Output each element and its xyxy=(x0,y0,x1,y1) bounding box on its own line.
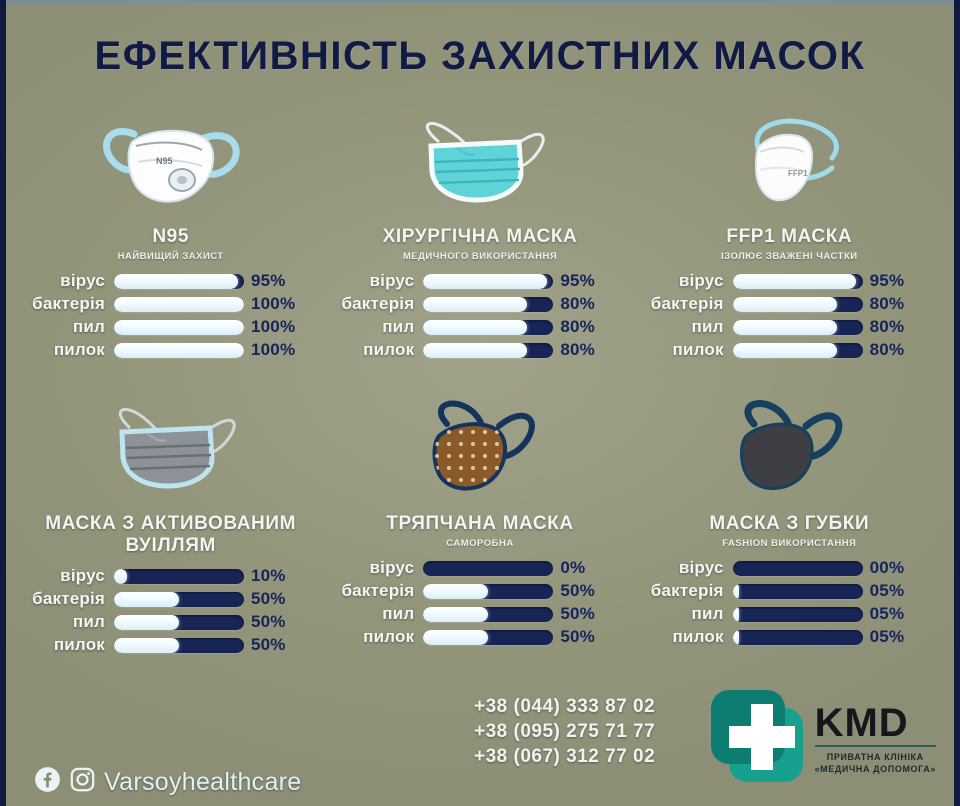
bar-label: пил xyxy=(325,604,423,624)
bar-track xyxy=(733,561,863,576)
bar-row: пил 50% xyxy=(325,604,634,624)
bar-row: вірус 95% xyxy=(325,271,634,291)
mask-card-cloth[interactable]: ТРЯПЧАНА МАСКА САМОРОБНА вірус 0% бактер… xyxy=(325,385,634,658)
bar-track xyxy=(733,343,863,358)
bar-fill xyxy=(114,638,179,653)
mask-row-bottom: МАСКА З АКТИВОВАНИМ ВУІЛЛЯМ вірус 10% ба… xyxy=(16,385,944,658)
bar-list: вірус 95% бактерія 80% пил 80% xyxy=(635,271,944,360)
bar-label: пилок xyxy=(325,340,423,360)
bar-row: бактерія 50% xyxy=(325,581,634,601)
bar-label: бактерія xyxy=(325,294,423,314)
mask-card-n95[interactable]: N95 N95 НАЙВИЩИЙ ЗАХИСТ вірус 95% бактер… xyxy=(16,98,325,363)
mask-subtitle: FASHION ВИКОРИСТАННЯ xyxy=(635,538,944,549)
surgical-mask-icon xyxy=(325,98,634,226)
bar-row: бактерія 50% xyxy=(16,589,325,609)
bar-row: пил 80% xyxy=(325,317,634,337)
bar-fill xyxy=(733,584,740,599)
kmd-logo[interactable]: KMD ПРИВАТНА КЛІНІКА «МЕДИЧНА ДОПОМОГА» xyxy=(711,690,936,782)
mask-title: МАСКА З ГУБКИ xyxy=(635,513,944,535)
bar-fill xyxy=(733,630,740,645)
bar-fill xyxy=(423,297,527,312)
bar-track xyxy=(733,584,863,599)
bar-row: пилок 80% xyxy=(325,340,634,360)
mask-card-surgical[interactable]: ХІРУРГІЧНА МАСКА МЕДИЧНОГО ВИКОРИСТАННЯ … xyxy=(325,98,634,363)
bar-row: пил 05% xyxy=(635,604,944,624)
page-title: ЕФЕКТИВНІСТЬ ЗАХИСТНИХ МАСОК xyxy=(6,34,954,79)
bar-value: 50% xyxy=(553,604,613,624)
bar-value: 0% xyxy=(553,558,613,578)
logo-tagline-line2: «МЕДИЧНА ДОПОМОГА» xyxy=(815,763,936,775)
bar-fill xyxy=(114,592,179,607)
mask-subtitle: НАЙВИЩИЙ ЗАХИСТ xyxy=(16,251,325,262)
ffp1-respirator-icon: FFP1 xyxy=(635,98,944,226)
bar-row: вірус 00% xyxy=(635,558,944,578)
bar-value: 80% xyxy=(553,340,613,360)
bar-row: бактерія 80% xyxy=(635,294,944,314)
bar-label: бактерія xyxy=(16,589,114,609)
bar-row: пилок 50% xyxy=(16,635,325,655)
bar-fill xyxy=(114,320,244,335)
bar-list: вірус 10% бактерія 50% пил 50% xyxy=(16,566,325,655)
bar-fill xyxy=(733,320,837,335)
bar-track xyxy=(733,607,863,622)
bar-label: пил xyxy=(16,317,114,337)
bar-value: 10% xyxy=(244,566,304,586)
sponge-mask-icon xyxy=(635,385,944,513)
bar-fill xyxy=(114,274,238,289)
bar-value: 05% xyxy=(863,627,923,647)
bar-label: пил xyxy=(325,317,423,337)
bar-value: 80% xyxy=(553,294,613,314)
infographic-page: ЕФЕКТИВНІСТЬ ЗАХИСТНИХ МАСОК N95 xyxy=(0,0,960,806)
cloth-mask-icon xyxy=(325,385,634,513)
bar-row: бактерія 100% xyxy=(16,294,325,314)
bar-label: пил xyxy=(635,604,733,624)
bar-track xyxy=(114,569,244,584)
social-handle[interactable]: Varsoyhealthcare xyxy=(104,768,302,797)
bar-row: пил 50% xyxy=(16,612,325,632)
bar-track xyxy=(114,638,244,653)
bar-value: 00% xyxy=(863,558,923,578)
bar-row: бактерія 05% xyxy=(635,581,944,601)
bar-fill xyxy=(114,569,127,584)
bar-row: пилок 100% xyxy=(16,340,325,360)
bar-row: пилок 50% xyxy=(325,627,634,647)
bar-fill xyxy=(733,297,837,312)
bar-track xyxy=(423,320,553,335)
bar-track xyxy=(733,274,863,289)
bar-label: вірус xyxy=(635,271,733,291)
bar-track xyxy=(114,592,244,607)
bar-value: 05% xyxy=(863,604,923,624)
bar-fill xyxy=(733,274,857,289)
top-divider xyxy=(6,0,954,3)
bar-label: вірус xyxy=(325,271,423,291)
phone-number[interactable]: +38 (067) 312 77 02 xyxy=(474,744,655,769)
bar-track xyxy=(423,630,553,645)
bar-track xyxy=(114,615,244,630)
bar-track xyxy=(114,274,244,289)
svg-text:FFP1: FFP1 xyxy=(788,169,808,178)
bar-fill xyxy=(733,607,740,622)
bar-label: пилок xyxy=(16,340,114,360)
bar-label: бактерія xyxy=(16,294,114,314)
phone-list: +38 (044) 333 87 02 +38 (095) 275 71 77 … xyxy=(474,694,655,769)
bar-value: 50% xyxy=(244,612,304,632)
bar-value: 100% xyxy=(244,317,304,337)
bar-row: вірус 95% xyxy=(16,271,325,291)
mask-card-charcoal[interactable]: МАСКА З АКТИВОВАНИМ ВУІЛЛЯМ вірус 10% ба… xyxy=(16,385,325,658)
bar-label: пил xyxy=(635,317,733,337)
mask-title: FFP1 МАСКА xyxy=(635,226,944,248)
charcoal-mask-icon xyxy=(16,385,325,513)
bar-row: пилок 05% xyxy=(635,627,944,647)
bar-value: 80% xyxy=(863,317,923,337)
bar-track xyxy=(423,607,553,622)
instagram-icon[interactable] xyxy=(69,766,96,798)
bar-track xyxy=(114,320,244,335)
bar-value: 05% xyxy=(863,581,923,601)
bar-value: 80% xyxy=(553,317,613,337)
footer: +38 (044) 333 87 02 +38 (095) 275 71 77 … xyxy=(6,686,954,806)
bar-value: 50% xyxy=(244,635,304,655)
bar-track xyxy=(114,297,244,312)
bar-track xyxy=(733,630,863,645)
bar-fill xyxy=(423,584,488,599)
bar-track xyxy=(733,320,863,335)
bar-label: бактерія xyxy=(635,294,733,314)
bar-fill xyxy=(423,343,527,358)
bar-label: бактерія xyxy=(325,581,423,601)
bar-label: пилок xyxy=(635,340,733,360)
mask-card-sponge[interactable]: МАСКА З ГУБКИ FASHION ВИКОРИСТАННЯ вірус… xyxy=(635,385,944,658)
bar-fill xyxy=(733,343,837,358)
logo-text-block: KMD ПРИВАТНА КЛІНІКА «МЕДИЧНА ДОПОМОГА» xyxy=(815,697,936,775)
mask-subtitle: ІЗОЛЮЄ ЗВАЖЕНІ ЧАСТКИ xyxy=(635,251,944,262)
bar-fill xyxy=(114,297,244,312)
bar-fill xyxy=(114,343,244,358)
bar-row: пил 100% xyxy=(16,317,325,337)
mask-subtitle: САМОРОБНА xyxy=(325,538,634,549)
bar-fill xyxy=(114,615,179,630)
bar-row: бактерія 80% xyxy=(325,294,634,314)
bar-label: пилок xyxy=(325,627,423,647)
bar-label: вірус xyxy=(16,271,114,291)
bar-value: 100% xyxy=(244,294,304,314)
mask-card-ffp1[interactable]: FFP1 FFP1 МАСКА ІЗОЛЮЄ ЗВАЖЕНІ ЧАСТКИ ві… xyxy=(635,98,944,363)
facebook-icon[interactable] xyxy=(34,766,61,798)
logo-divider xyxy=(815,745,936,747)
bar-label: пилок xyxy=(635,627,733,647)
bar-row: вірус 0% xyxy=(325,558,634,578)
mask-title: N95 xyxy=(16,226,325,248)
medical-cross-icon xyxy=(711,690,803,782)
phone-number[interactable]: +38 (044) 333 87 02 xyxy=(474,694,655,719)
bar-label: пил xyxy=(16,612,114,632)
bar-row: вірус 95% xyxy=(635,271,944,291)
n95-respirator-icon: N95 xyxy=(16,98,325,226)
bar-value: 95% xyxy=(553,271,613,291)
bar-list: вірус 95% бактерія 100% пил 100% xyxy=(16,271,325,360)
bar-value: 50% xyxy=(553,581,613,601)
bar-value: 50% xyxy=(553,627,613,647)
bar-list: вірус 0% бактерія 50% пил 50% xyxy=(325,558,634,647)
bar-list: вірус 00% бактерія 05% пил 05% xyxy=(635,558,944,647)
bar-label: бактерія xyxy=(635,581,733,601)
bar-value: 100% xyxy=(244,340,304,360)
bar-track xyxy=(423,584,553,599)
mask-title: МАСКА З АКТИВОВАНИМ ВУІЛЛЯМ xyxy=(16,513,325,557)
social-links[interactable]: Varsoyhealthcare xyxy=(34,766,302,798)
mask-title: ХІРУРГІЧНА МАСКА xyxy=(325,226,634,248)
bar-list: вірус 95% бактерія 80% пил 80% xyxy=(325,271,634,360)
bar-row: пил 80% xyxy=(635,317,944,337)
bar-track xyxy=(733,297,863,312)
bar-value: 80% xyxy=(863,294,923,314)
bar-label: вірус xyxy=(16,566,114,586)
mask-row-top: N95 N95 НАЙВИЩИЙ ЗАХИСТ вірус 95% бактер… xyxy=(16,98,944,363)
mask-subtitle: МЕДИЧНОГО ВИКОРИСТАННЯ xyxy=(325,251,634,262)
svg-text:N95: N95 xyxy=(156,156,173,166)
bar-track xyxy=(114,343,244,358)
bar-row: пилок 80% xyxy=(635,340,944,360)
bar-fill xyxy=(423,630,488,645)
phone-number[interactable]: +38 (095) 275 71 77 xyxy=(474,719,655,744)
mask-grid: N95 N95 НАЙВИЩИЙ ЗАХИСТ вірус 95% бактер… xyxy=(16,98,944,658)
bar-value: 50% xyxy=(244,589,304,609)
bar-label: вірус xyxy=(325,558,423,578)
bar-value: 80% xyxy=(863,340,923,360)
bar-value: 95% xyxy=(244,271,304,291)
logo-name: KMD xyxy=(815,703,936,743)
bar-fill xyxy=(423,320,527,335)
bar-fill xyxy=(423,607,488,622)
bar-track xyxy=(423,297,553,312)
bar-label: вірус xyxy=(635,558,733,578)
bar-track xyxy=(423,561,553,576)
bar-value: 95% xyxy=(863,271,923,291)
bar-track xyxy=(423,343,553,358)
bar-row: вірус 10% xyxy=(16,566,325,586)
bar-fill xyxy=(423,274,547,289)
bar-label: пилок xyxy=(16,635,114,655)
mask-title: ТРЯПЧАНА МАСКА xyxy=(325,513,634,535)
logo-tagline-line1: ПРИВАТНА КЛІНІКА xyxy=(815,751,936,763)
bar-track xyxy=(423,274,553,289)
